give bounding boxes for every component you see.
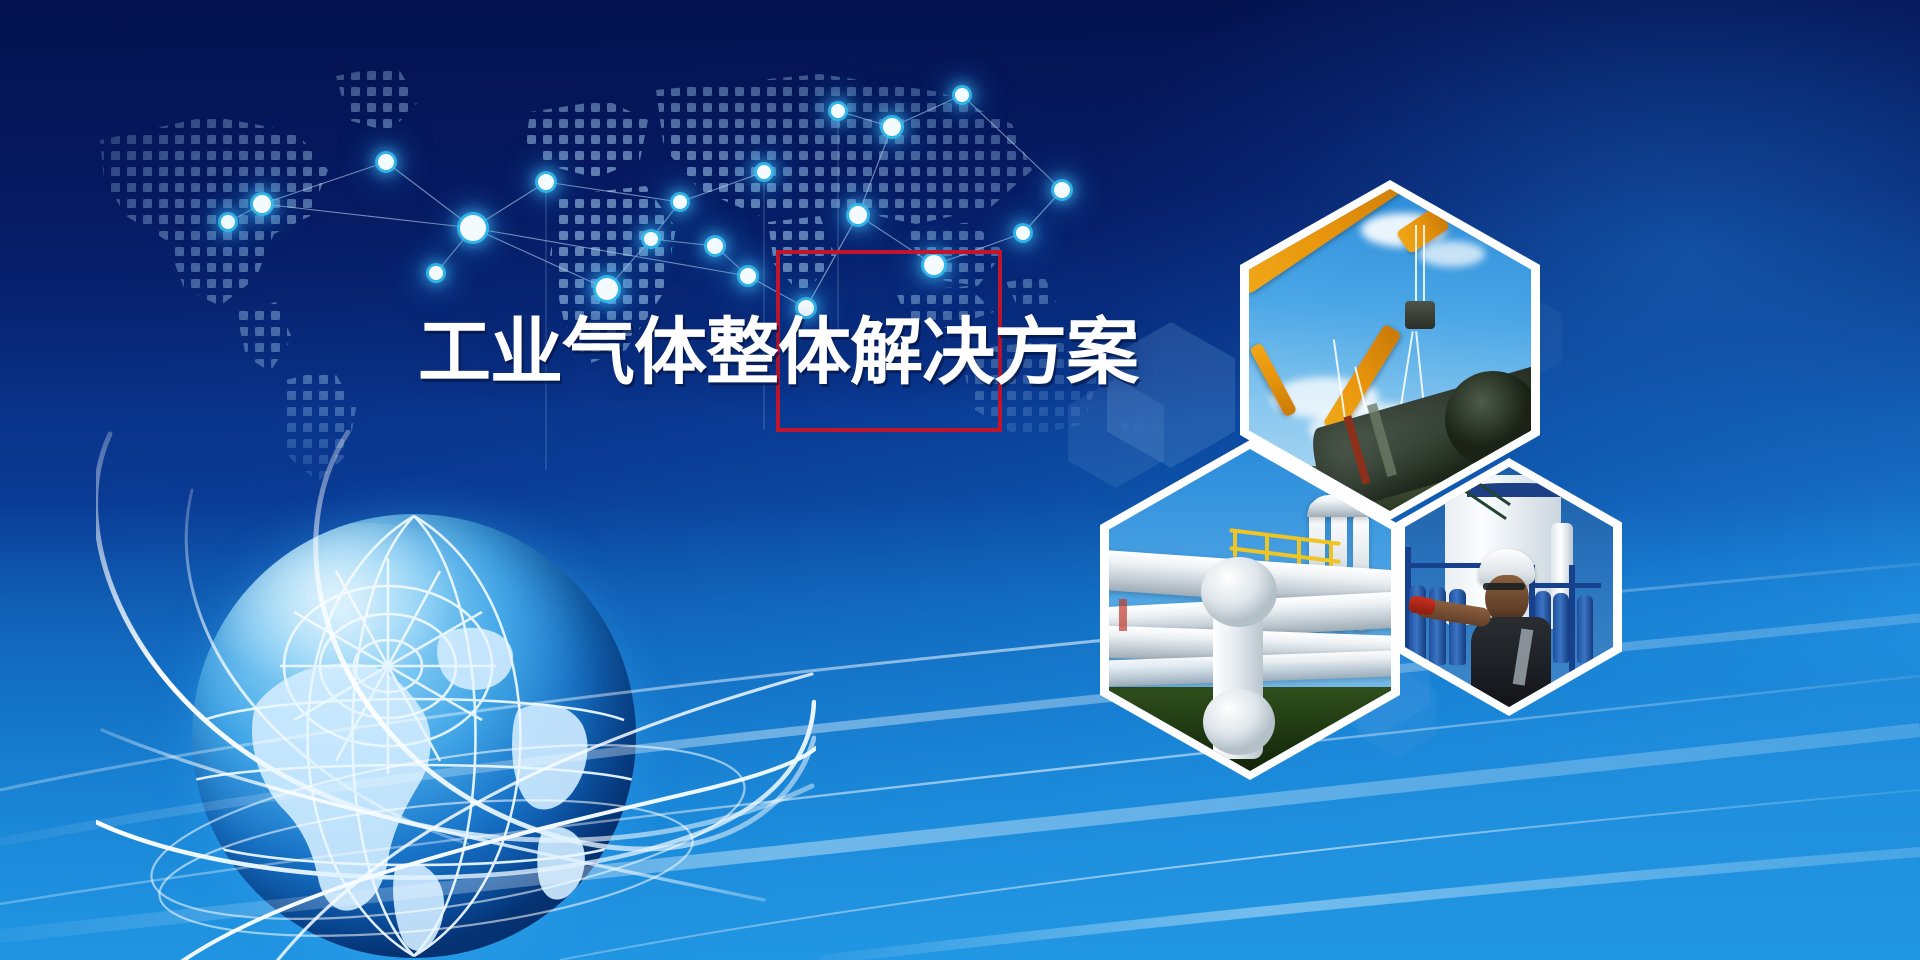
railing-post	[1233, 531, 1237, 557]
gas-cylinder	[1577, 595, 1593, 663]
network-node	[538, 174, 554, 190]
network-node	[253, 195, 271, 213]
cloud	[1419, 241, 1485, 267]
gas-cylinder	[1449, 589, 1466, 665]
network-node	[740, 268, 756, 284]
pipe-band	[1119, 599, 1127, 631]
pipe-flange-top	[1201, 557, 1277, 627]
pipe-flange-bottom	[1203, 689, 1275, 755]
network-node	[460, 215, 486, 241]
safety-glasses	[1483, 583, 1525, 590]
network-node	[596, 278, 618, 300]
banner-title: 工业气体整体解决方案	[418, 313, 1038, 393]
network-node	[221, 215, 235, 229]
cylinder-rack	[1529, 583, 1601, 588]
network-node	[849, 206, 867, 224]
cylinder-rack	[1405, 563, 1483, 568]
network-node	[378, 154, 394, 170]
network-node	[831, 104, 845, 118]
network-node	[429, 266, 443, 280]
network-node	[707, 238, 723, 254]
worker-torso	[1471, 617, 1551, 707]
network-node	[955, 88, 969, 102]
railing-post	[1297, 539, 1301, 565]
network-node	[644, 232, 658, 246]
network-node	[1054, 182, 1070, 198]
network-node	[1016, 226, 1030, 240]
network-node	[757, 165, 771, 179]
network-node	[883, 118, 901, 136]
cylinder-rack	[1569, 565, 1575, 675]
crane-hook-block	[1405, 301, 1435, 329]
railing-post	[1265, 535, 1269, 561]
network-node	[673, 195, 687, 209]
light-ribbons	[0, 490, 1920, 960]
gas-cylinder	[1553, 593, 1569, 663]
industrial-gas-banner: 工业气体整体解决方案	[0, 0, 1920, 960]
title-block: 工业气体整体解决方案	[418, 313, 1038, 401]
